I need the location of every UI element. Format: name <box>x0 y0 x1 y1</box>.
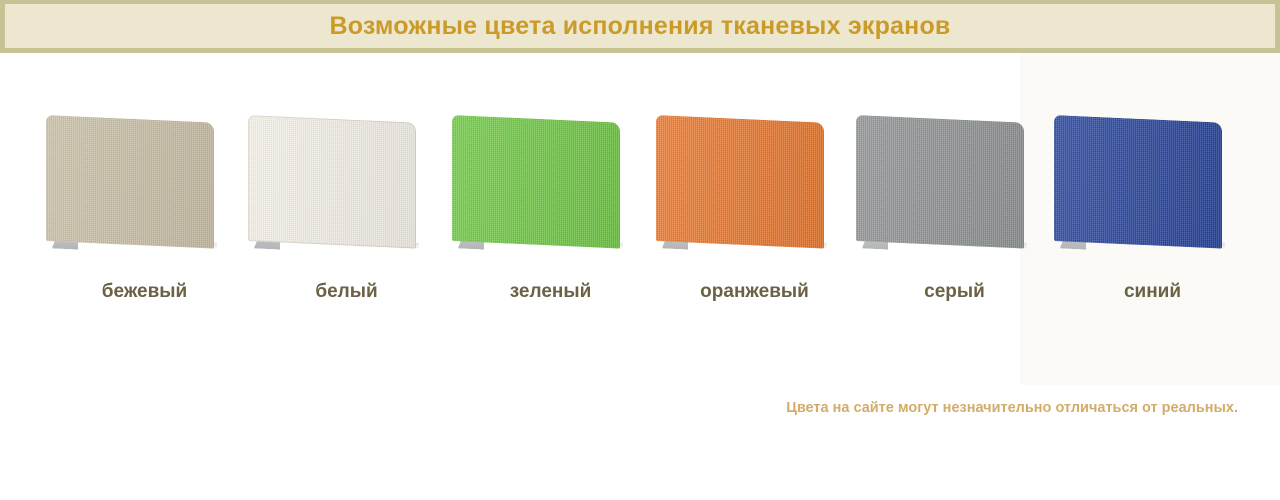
panel-fabric-screen[interactable] <box>1054 115 1222 249</box>
panel-fabric-screen[interactable] <box>248 115 416 249</box>
panel-swatch-row: бежевыйбелыйзеленыйоранжевыйсерыйсиний <box>0 53 1280 283</box>
color-disclaimer-note: Цвета на сайте могут незначительно отлич… <box>786 400 1238 416</box>
panel-swatch[interactable]: оранжевый <box>648 53 861 283</box>
panel-swatch[interactable]: синий <box>1046 53 1259 283</box>
header-band: Возможные цвета исполнения тканевых экра… <box>0 0 1280 53</box>
panel-fabric-screen[interactable] <box>656 115 824 249</box>
panel-swatch[interactable]: серый <box>848 53 1061 283</box>
panel-swatch[interactable]: бежевый <box>38 53 251 283</box>
header-inner-panel: Возможные цвета исполнения тканевых экра… <box>5 4 1275 48</box>
panel-color-label: серый <box>848 281 1061 303</box>
panel-fabric-screen[interactable] <box>856 115 1024 249</box>
panel-color-label: зеленый <box>444 281 657 303</box>
panel-swatch[interactable]: зеленый <box>444 53 657 283</box>
panel-color-label: синий <box>1046 281 1259 303</box>
color-options-figure: Возможные цвета исполнения тканевых экра… <box>0 0 1280 500</box>
page-title: Возможные цвета исполнения тканевых экра… <box>330 12 951 41</box>
panel-fabric-screen[interactable] <box>46 115 214 249</box>
panel-swatch[interactable]: белый <box>240 53 453 283</box>
panel-color-label: белый <box>240 281 453 303</box>
panel-color-label: оранжевый <box>648 281 861 303</box>
panel-fabric-screen[interactable] <box>452 115 620 249</box>
panel-color-label: бежевый <box>38 281 251 303</box>
